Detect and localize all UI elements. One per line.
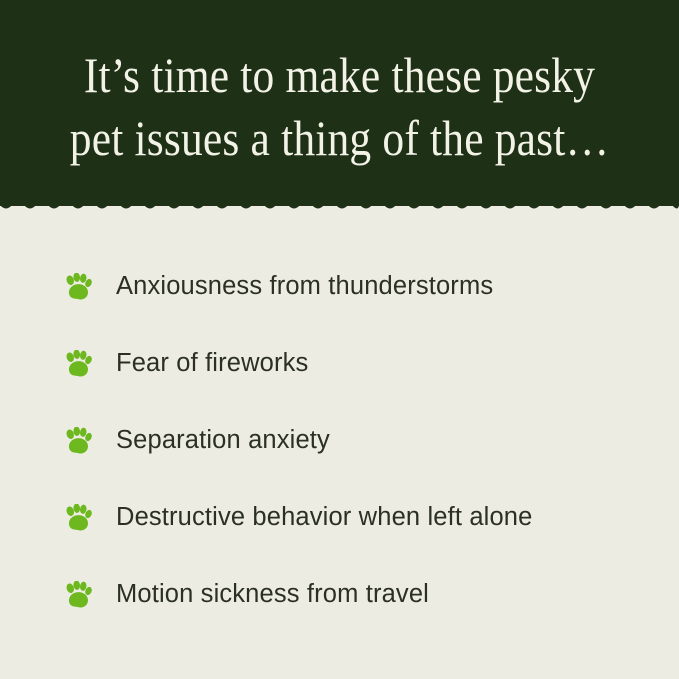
paw-print-icon bbox=[64, 273, 92, 302]
list-item-label: Separation anxiety bbox=[116, 428, 330, 454]
list-item-label: Motion sickness from travel bbox=[116, 582, 429, 608]
header-band: It’s time to make these pesky pet issues… bbox=[0, 0, 679, 206]
list-item: Motion sickness from travel bbox=[0, 556, 679, 633]
list-item-label: Anxiousness from thunderstorms bbox=[116, 274, 493, 300]
list-item-label: Destructive behavior when left alone bbox=[116, 505, 532, 531]
pet-issues-list: Anxiousness from thunderstorms Fear of f… bbox=[0, 248, 679, 633]
paw-print-icon bbox=[64, 581, 92, 610]
paw-print-icon bbox=[64, 350, 92, 379]
paw-print-icon bbox=[64, 504, 92, 533]
list-item: Separation anxiety bbox=[0, 402, 679, 479]
list-item-label: Fear of fireworks bbox=[116, 351, 308, 377]
list-item: Fear of fireworks bbox=[0, 325, 679, 402]
list-item: Destructive behavior when left alone bbox=[0, 479, 679, 556]
list-item: Anxiousness from thunderstorms bbox=[0, 248, 679, 325]
headline-line-1: It’s time to make these pesky bbox=[44, 44, 635, 107]
page-title: It’s time to make these pesky pet issues… bbox=[44, 0, 635, 170]
headline-line-2: pet issues a thing of the past… bbox=[44, 107, 635, 170]
paw-print-icon bbox=[64, 427, 92, 456]
promo-poster: It’s time to make these pesky pet issues… bbox=[0, 0, 679, 679]
